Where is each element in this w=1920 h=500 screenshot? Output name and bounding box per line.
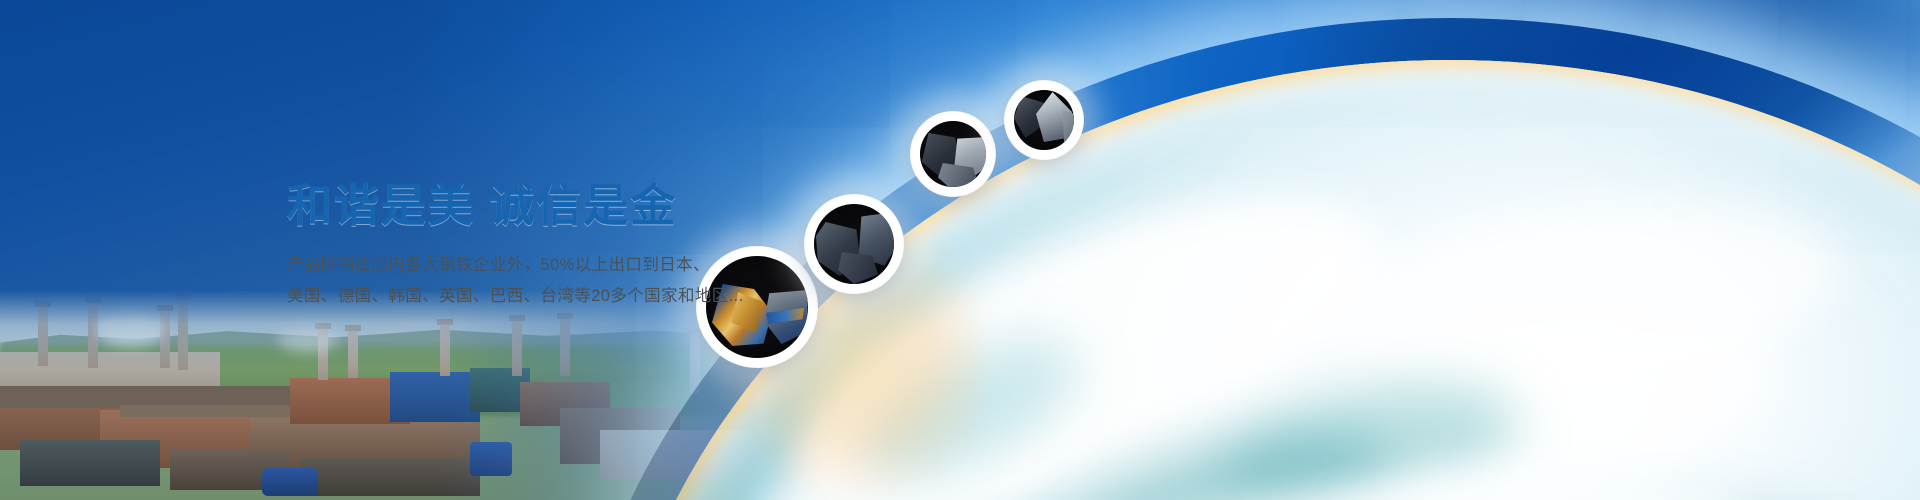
smoke-plume: [96, 312, 166, 346]
smokestack: [178, 298, 188, 370]
banner-subtitle-line-1: 产品除销往国内各大钢铁企业外，50%以上出口到日本、: [287, 250, 847, 281]
tank-blue: [470, 442, 512, 476]
smokestack: [440, 324, 450, 376]
factory-building: [300, 458, 480, 496]
banner-text-block: 和谐是美 诚信是金 产品除销往国内各大钢铁企业外，50%以上出口到日本、 美国、…: [287, 180, 847, 312]
hero-banner: 和谐是美 诚信是金 产品除销往国内各大钢铁企业外，50%以上出口到日本、 美国、…: [0, 0, 1920, 500]
banner-headline: 和谐是美 诚信是金: [287, 180, 847, 232]
smokestack: [348, 330, 358, 378]
badge-silver-grey-ore-chunks[interactable]: [911, 112, 995, 196]
factory-building: [390, 372, 480, 422]
smoke-plume: [278, 326, 338, 352]
steel-plant-photo: [0, 290, 760, 500]
tank-blue: [262, 468, 318, 496]
badge-photo: [1014, 90, 1074, 150]
smokestack: [88, 302, 98, 368]
banner-subtitle: 产品除销往国内各大钢铁企业外，50%以上出口到日本、 美国、德国、韩国、英国、巴…: [287, 250, 847, 312]
badge-metallic-ore-fragments[interactable]: [1005, 81, 1083, 159]
banner-subtitle-line-2: 美国、德国、韩国、英国、巴西、台湾等20多个国家和地区...: [287, 281, 847, 312]
badge-photo: [920, 121, 986, 187]
smokestack: [560, 318, 570, 376]
factory-building: [20, 440, 160, 486]
smokestack: [690, 334, 700, 394]
factory-building: [600, 430, 760, 480]
smokestack: [512, 320, 522, 376]
smokestack: [38, 306, 48, 366]
smokestack: [160, 310, 170, 368]
